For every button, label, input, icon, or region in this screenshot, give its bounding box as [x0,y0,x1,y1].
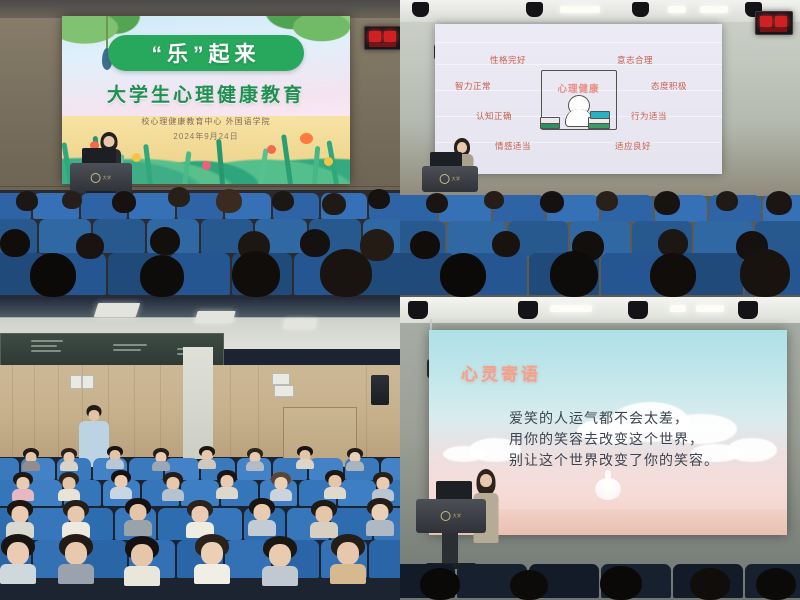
audience-person [310,500,338,536]
audience-person [62,500,90,536]
audience-person [330,534,366,582]
audience-person [270,472,292,500]
audience-person [194,534,230,582]
slide-subtitle: 大学生心理健康教育 [107,80,305,107]
photo-panel-top-right: 性格完好 意志合理 智力正常 态度积极 认知正确 行为适当 情感适当 适应良好 … [400,0,800,297]
audience-person [296,446,314,468]
slide-organizer: 校心理健康教育中心 外国语学院 [141,116,270,127]
audience-person [6,500,34,536]
ceiling-speaker-icon [628,301,648,319]
ceiling-light [668,6,686,13]
ceiling-light [550,305,592,312]
slide-body-line: 爱笑的人运气都不会太差， [509,408,719,429]
audience-person [152,448,170,470]
podium-stem [442,533,458,565]
led-clock-display [755,11,793,35]
audience-person [22,448,40,470]
wall-seam [0,186,400,187]
wall-outlet-icon [70,375,82,389]
wall-outlet-icon [274,385,294,397]
photo-panel-top-left: “乐”起来 大学生心理健康教育 校心理健康教育中心 外国语学院 2024年9月2… [0,0,400,297]
audience-person [198,446,216,468]
university-emblem-icon: 大学 [440,174,461,184]
audience-area [400,564,800,600]
diagram-label: 智力正常 [455,80,491,92]
ceiling-light [696,305,724,312]
ceiling-light [670,305,686,312]
ceiling-speaker-icon [518,301,538,319]
podium: 大学 [416,499,486,533]
audience-area [0,189,400,297]
slide-title-text: “乐”起来 [152,38,261,68]
book-icon [590,111,610,119]
university-emblem-icon: 大学 [91,173,112,183]
audience-person [0,534,36,582]
audience-person [262,536,298,584]
audience-person [106,446,124,468]
audience-person [58,472,80,500]
audience-person [58,534,94,582]
slide-title: 心灵寄语 [461,360,541,385]
audience-area [400,187,800,297]
ceiling-light [700,6,728,13]
diagram-label: 态度积极 [651,80,687,92]
ceiling-speaker-icon [412,2,429,17]
slide-body-line: 别让这个世界改变了你的笑容。 [509,450,719,471]
diagram-label: 意志合理 [617,54,653,66]
book-icon [540,117,560,124]
wall-outlet-icon [82,375,94,389]
dancer-silhouette-icon [595,478,621,500]
audience-person [372,472,394,500]
diagram-center-label: 心理健康 [557,81,599,95]
audience-person [124,536,160,584]
audience-person [124,498,152,534]
audience-person [12,472,34,500]
audience-person [246,448,264,470]
hanging-ornament-icon [106,16,108,50]
ceiling-light [560,6,600,13]
diagram-label: 情感适当 [495,140,531,152]
audience-person [60,448,78,470]
audience-person [324,470,346,498]
audience-person [110,470,132,498]
ceiling-speaker-icon [526,2,543,17]
ceiling-light [283,319,317,329]
diagram-frame: 心理健康 [541,70,617,130]
slide-title-pill: “乐”起来 [108,35,304,71]
ceiling-speaker-icon [738,301,758,319]
ceiling-light [94,303,141,317]
photo-panel-bottom-right: 心灵寄语 爱笑的人运气都不会太差， 用你的笑容去改变这个世界， 别让这个世界改变… [400,297,800,600]
audience-person [162,472,184,500]
audience-person [216,470,238,498]
ceiling-speaker-icon [632,2,649,17]
wall-speaker-icon [371,375,389,405]
laptop [436,481,472,500]
university-emblem-icon: 大学 [441,511,462,521]
slide-date: 2024年9月24日 [173,131,238,142]
projection-screen: 性格完好 意志合理 智力正常 态度积极 认知正确 行为适当 情感适当 适应良好 … [435,24,722,174]
wall-outlet-icon [272,373,290,385]
ceiling-speaker-icon [408,301,428,319]
led-clock-display [364,26,400,50]
photo-panel-bottom-left [0,297,400,600]
diagram-label: 行为适当 [631,110,667,122]
audience-person [366,498,394,534]
diagram-label: 适应良好 [615,140,651,152]
audience-person [248,498,276,534]
photo-collage: “乐”起来 大学生心理健康教育 校心理健康教育中心 外国语学院 2024年9月2… [0,0,800,600]
ceiling-beam [400,0,800,22]
diagram-label: 认知正确 [476,110,512,122]
slide-body-line: 用你的笑容去改变这个世界， [509,429,719,450]
audience-person [186,500,214,536]
diagram-label: 性格完好 [490,54,526,66]
slide-body-text: 爱笑的人运气都不会太差， 用你的笑容去改变这个世界， 别让这个世界改变了你的笑容… [509,408,719,471]
audience-person [346,448,364,470]
audience-area [0,440,400,600]
ceiling-light [194,311,235,323]
